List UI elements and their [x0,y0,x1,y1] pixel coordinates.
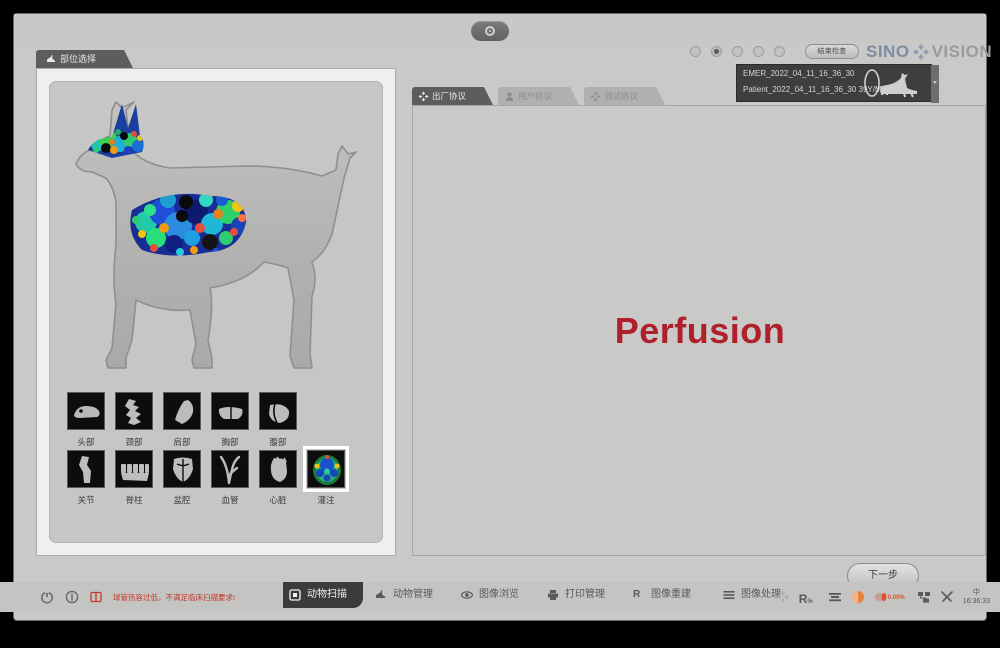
body-part-vessel-label: 血管 [208,494,252,506]
status-bar-left: 球管热容过低，不满足临床扫描要求! [40,582,235,612]
status-bar: 球管热容过低，不满足临床扫描要求! 动物扫描 动物管理 [0,582,1000,612]
tab-user-protocol-label: 用户协议 [518,91,552,101]
heart-scan-icon [259,450,297,488]
patient-list-expander[interactable] [931,65,939,103]
protocol-tab-strip: 出厂协议 用户协议 测试协议 [412,87,702,105]
step-radio-3[interactable] [732,46,743,57]
tab-factory-protocol-label: 出厂协议 [432,91,466,101]
patient-info-chip[interactable]: EMER_2022_04_11_16_36_30 Patient_2022_04… [736,64,932,102]
step-radio-1[interactable] [690,46,701,57]
module-tab-animal-management[interactable]: 动物管理 [369,582,449,608]
dog-icon [375,589,387,601]
body-part-selection-panel: 头部 颈部 [36,68,396,556]
r-dose-icon[interactable]: R% [799,590,819,604]
dog-icon [46,54,56,64]
brand-logo: SINO VISION [866,41,992,63]
tab-slant [484,87,493,105]
body-part-chest-label: 胸部 [208,436,252,448]
body-part-abdomen-label: 腹部 [256,436,300,448]
body-part-abdomen[interactable]: 腹部 [256,392,300,448]
tab-test-protocol-label: 测试协议 [604,91,638,101]
body-part-row-1: 头部 颈部 [64,392,370,450]
neck-scan-icon [115,392,153,430]
tube-heat-warning-text: 球管热容过低，不满足临床扫描要求! [113,592,235,603]
tab-test-protocol[interactable]: 测试协议 [584,87,656,105]
module-tab-image-reconstruction[interactable]: R 图像重建 [627,582,713,608]
detector-icon[interactable]: 0.00% [874,590,908,604]
module-tab-animal-management-label: 动物管理 [393,589,433,600]
body-part-head[interactable]: 头部 [64,392,108,448]
camera-toggle-button[interactable] [471,21,509,41]
body-part-head-label: 头部 [64,436,108,448]
body-part-shoulder[interactable]: 肩部 [160,392,204,448]
body-part-perfusion[interactable]: 灌注 [304,450,348,506]
application-root: 结束检查 SINO VISION EME [0,0,1000,648]
patient-thumbnail-dog-icon [861,68,923,100]
brand-name-secondary: VISION [932,42,993,62]
module-tab-animal-scan-label: 动物扫描 [307,589,347,600]
module-tab-animal-scan[interactable]: 动物扫描 [283,582,363,608]
pelvis-scan-icon [163,450,201,488]
power-icon[interactable] [40,590,54,604]
body-part-spine-label: 脊柱 [112,494,156,506]
clock-time: 16:36:33 [963,597,990,606]
tab-user-protocol[interactable]: 用户协议 [498,87,570,105]
body-part-spine[interactable]: 脊柱 [112,450,156,506]
page-title: Perfusion [413,310,987,352]
camera-icon [485,26,495,36]
module-tab-image-reconstruction-label: 图像重建 [651,589,691,600]
body-part-heart[interactable]: 心脏 [256,450,300,506]
user-icon [504,91,515,102]
protocol-content-panel: Perfusion [412,105,986,556]
tab-body-part-selection-label: 部位选择 [60,50,96,68]
diamond-icon[interactable] [776,590,790,604]
clock-area[interactable]: 中 16:36:33 [963,588,990,606]
top-bar: 结束检查 SINO VISION EME [14,14,986,47]
body-part-inner-area: 头部 颈部 [49,81,383,543]
r-icon: R [633,589,645,601]
body-part-joint-label: 关节 [64,494,108,506]
detector-percent-label: 0.00% [888,595,905,601]
ime-indicator: 中 [963,588,990,597]
tab-slant [570,87,579,105]
body-part-heart-label: 心脏 [256,494,300,506]
network-icon[interactable] [917,590,931,604]
body-part-pelvis-label: 盆腔 [160,494,204,506]
step-radio-5[interactable] [774,46,785,57]
joint-scan-icon [67,450,105,488]
body-part-vessel[interactable]: 血管 [208,450,252,506]
shoulder-scan-icon [163,392,201,430]
printer-icon [547,589,559,601]
chest-scan-icon [211,392,249,430]
body-part-grid: 头部 颈部 [64,392,370,508]
dog-anatomy-view[interactable] [50,92,384,382]
body-part-pelvis[interactable]: 盆腔 [160,450,204,506]
tab-factory-protocol[interactable]: 出厂协议 [412,87,484,105]
body-part-chest[interactable]: 胸部 [208,392,252,448]
table-icon[interactable] [828,590,842,604]
step-radio-2[interactable] [711,46,722,57]
brand-name-primary: SINO [866,42,910,62]
module-tab-print-management[interactable]: 打印管理 [541,582,621,608]
layers-icon [723,589,735,601]
body-part-perfusion-label: 灌注 [304,494,348,506]
module-tab-print-management-label: 打印管理 [565,589,605,600]
tab-slant [656,87,665,105]
info-icon[interactable] [65,590,79,604]
abdomen-scan-icon [259,392,297,430]
body-part-neck-label: 颈部 [112,436,156,448]
eye-icon [461,589,473,601]
patient-study-id: EMER_2022_04_11_16_36_30 [743,69,855,78]
tab-slant [124,50,133,68]
perfusion-scan-icon [307,450,345,488]
scan-icon [289,589,301,601]
module-tab-image-browse-label: 图像浏览 [479,589,519,600]
main-window: 结束检查 SINO VISION EME [14,14,986,620]
end-exam-button[interactable]: 结束检查 [805,44,859,59]
vessel-scan-icon [211,450,249,488]
tab-body-part-selection[interactable]: 部位选择 [36,50,124,68]
body-part-joint[interactable]: 关节 [64,450,108,506]
spine-scan-icon [115,450,153,488]
head-scan-icon [67,392,105,430]
tools-icon[interactable] [940,590,954,604]
body-part-neck[interactable]: 颈部 [112,392,156,448]
body-part-row-2: 关节 脊柱 [64,450,370,508]
body-part-shoulder-label: 肩部 [160,436,204,448]
diamond-icon [418,91,429,102]
warning-icon [90,591,102,603]
module-tab-image-browse[interactable]: 图像浏览 [455,582,535,608]
system-tray: R% 0.00% [776,582,990,612]
brand-diamond-icon [912,43,930,61]
left-tab-strip: 部位选择 [36,50,136,68]
diamond-icon [590,91,601,102]
step-radio-4[interactable] [753,46,764,57]
tube-heat-icon[interactable] [851,590,865,604]
